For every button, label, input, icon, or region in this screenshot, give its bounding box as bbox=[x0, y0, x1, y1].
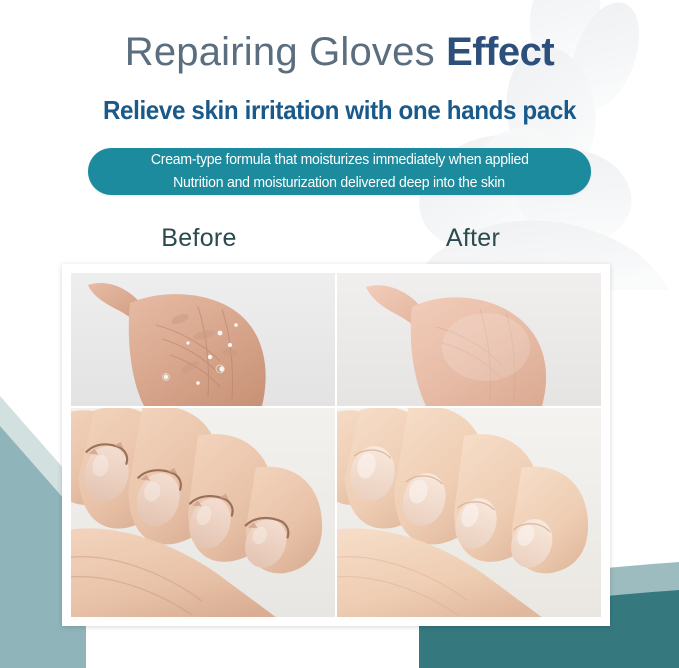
after-label: After bbox=[336, 224, 610, 260]
poster-subtitle: Relieve skin irritation with one hands p… bbox=[24, 95, 655, 126]
photo-after-palm bbox=[337, 273, 601, 406]
title-light-part: Repairing Gloves bbox=[125, 30, 435, 74]
photo-before-nails bbox=[71, 408, 335, 617]
photo-after-nails bbox=[337, 408, 601, 617]
benefit-banner-line-1: Cream-type formula that moisturizes imme… bbox=[151, 149, 529, 171]
before-after-labels: Before After bbox=[62, 224, 610, 260]
title-line: Repairing Gloves Effect bbox=[0, 30, 679, 75]
product-effect-poster: Repairing Gloves Effect Relieve skin irr… bbox=[0, 0, 679, 668]
comparison-photo-grid bbox=[71, 273, 601, 617]
benefit-banner-line-2: Nutrition and moisturization delivered d… bbox=[174, 172, 506, 194]
photo-before-palm bbox=[71, 273, 335, 406]
comparison-photo-frame bbox=[62, 264, 610, 626]
benefit-banner: Cream-type formula that moisturizes imme… bbox=[88, 148, 591, 195]
title-accent-part: Effect bbox=[446, 30, 554, 74]
before-label: Before bbox=[62, 224, 336, 260]
poster-title: Repairing Gloves Effect bbox=[0, 30, 679, 75]
